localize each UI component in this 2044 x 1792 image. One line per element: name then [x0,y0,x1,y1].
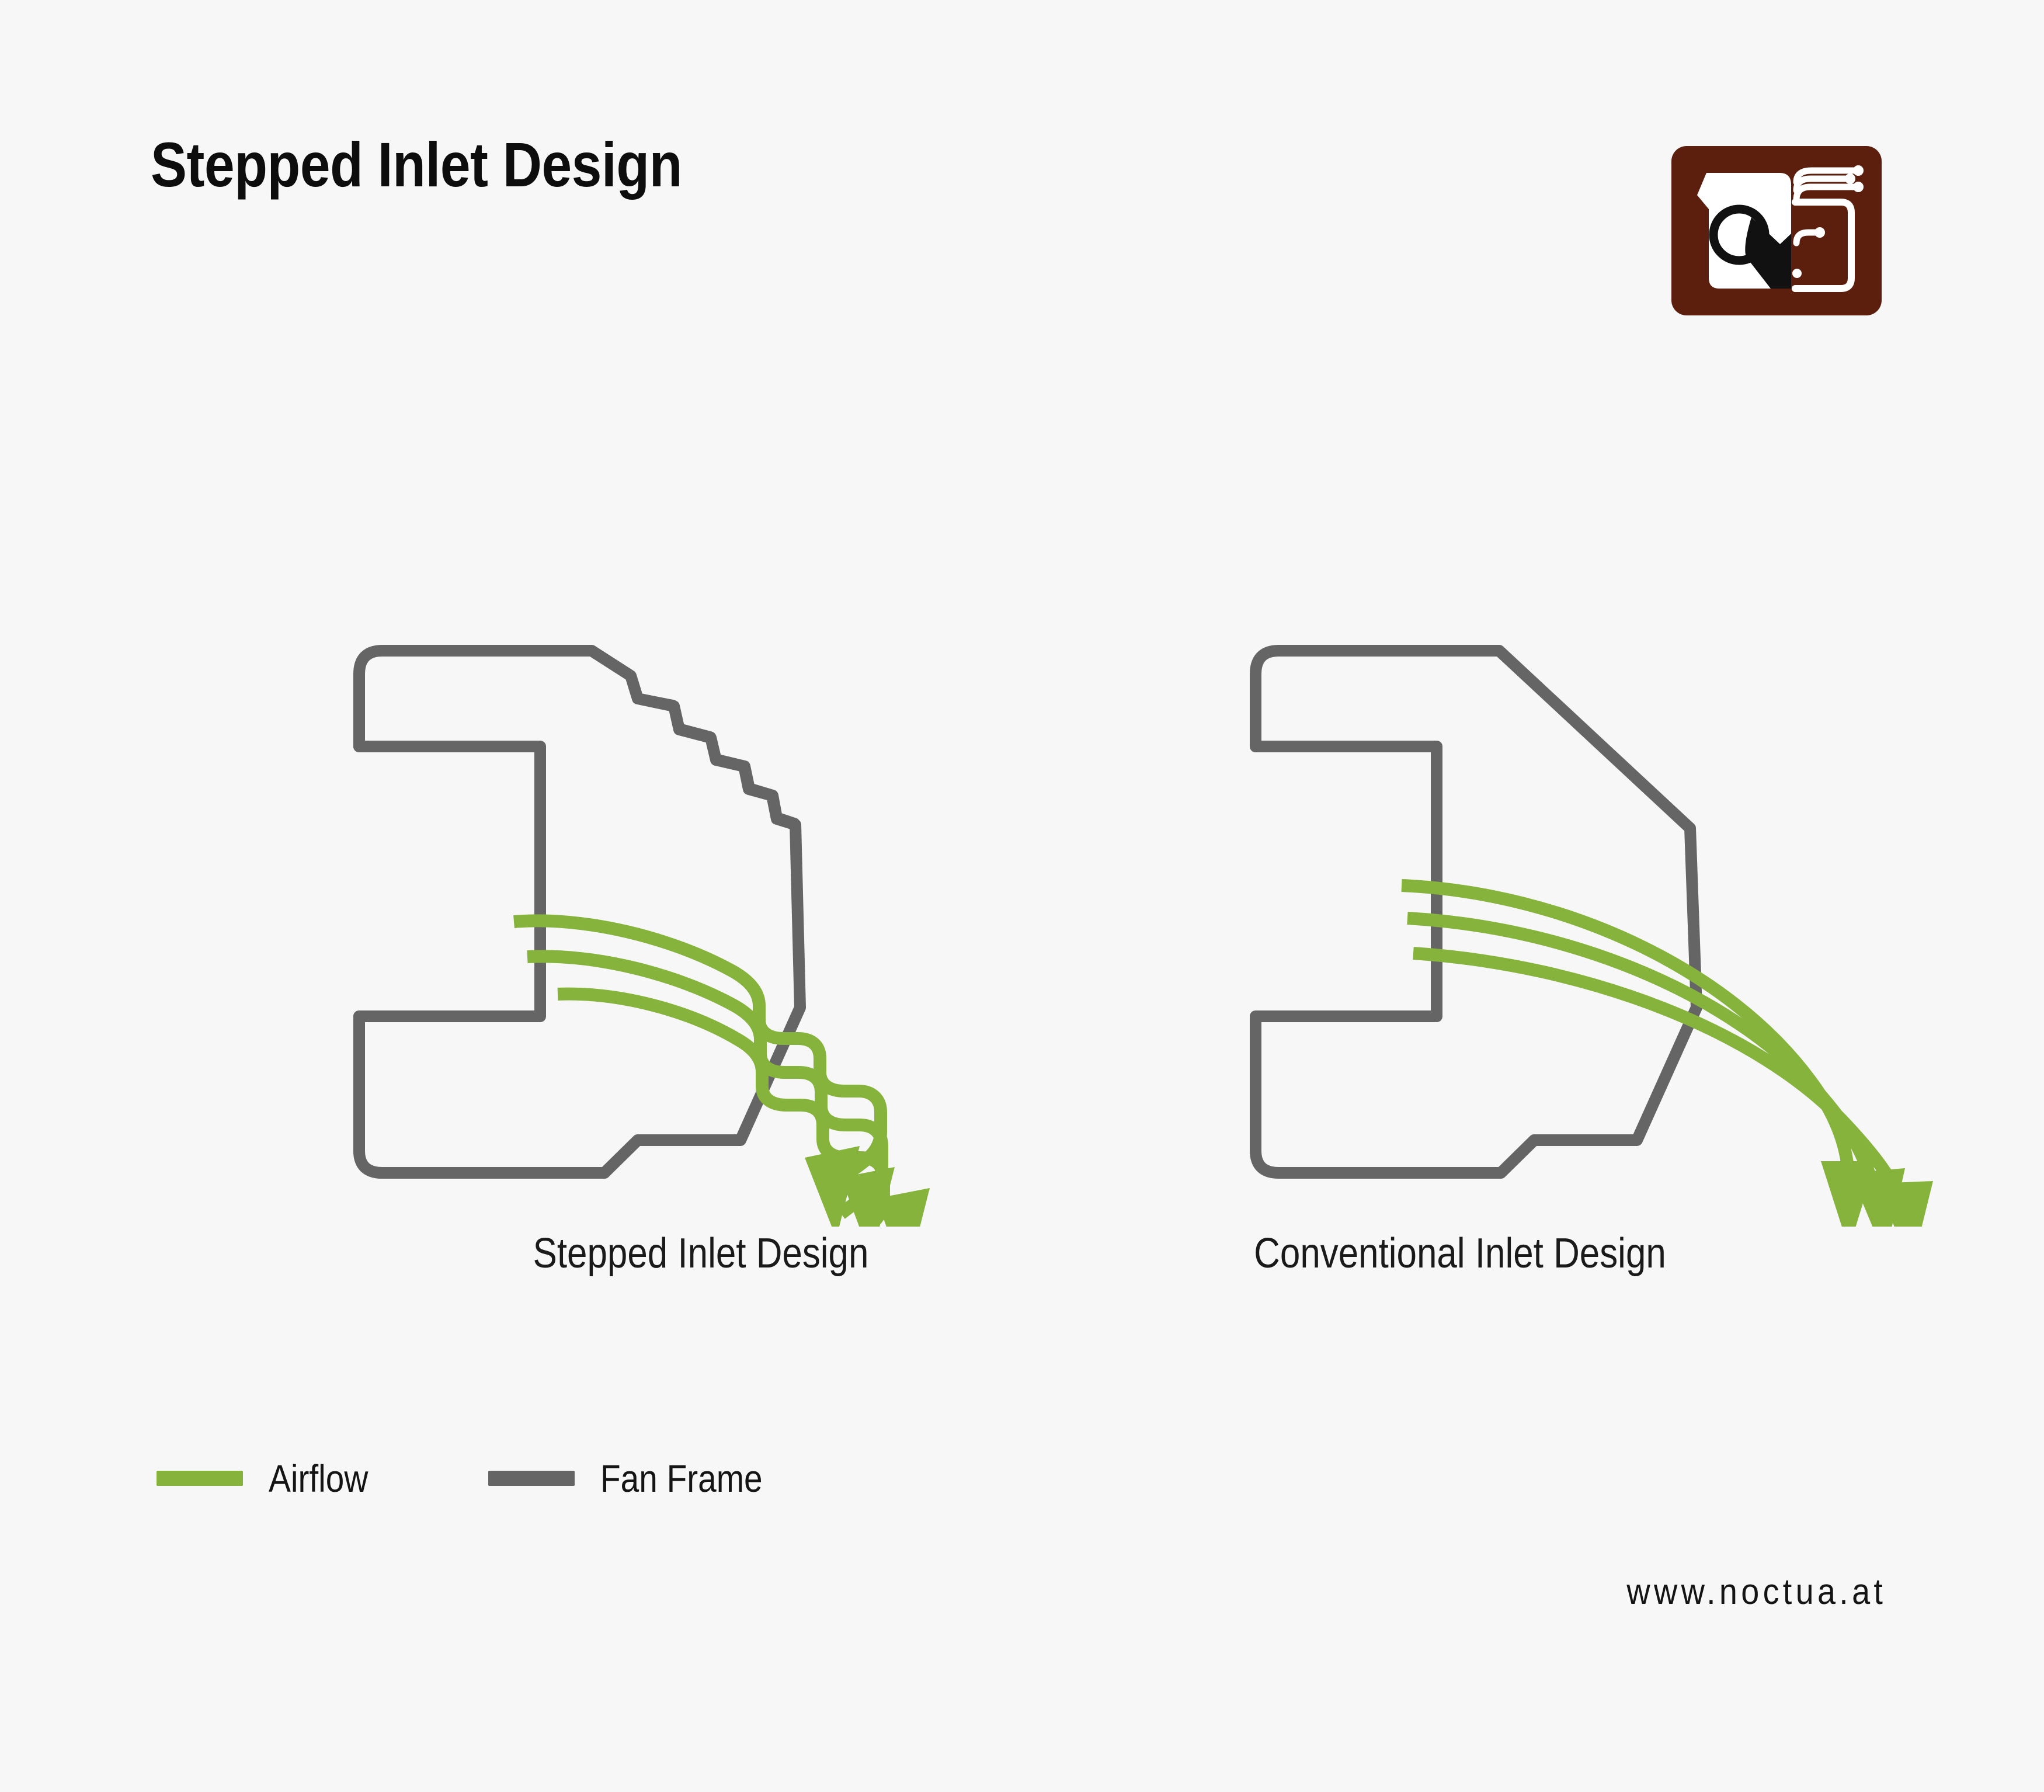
legend-item-airflow: Airflow [157,1459,384,1498]
logo-trace-dot-5 [1792,269,1802,278]
fan-frame-outline-stepped-clean [359,651,800,1173]
fan-frame-outline-conventional [1256,651,1697,1173]
legend-swatch-airflow [157,1471,243,1486]
legend: Airflow Fan Frame [157,1459,789,1498]
page-title: Stepped Inlet Design [151,133,682,196]
logo-trace-dot-3 [1853,165,1864,176]
legend-swatch-fan-frame [488,1471,575,1486]
legend-item-fan-frame: Fan Frame [488,1459,789,1498]
logo-trace-dot-4 [1814,227,1825,238]
diagram-area [0,409,2044,1227]
logo-trace-dot-2 [1845,173,1855,184]
caption-stepped-inlet: Stepped Inlet Design [299,1230,1103,1277]
infographic-canvas: Stepped Inlet Design [0,0,2044,1792]
legend-label-airflow: Airflow [269,1459,368,1498]
diagram-conventional-inlet [1256,651,1933,1227]
logo-trace-dot-1 [1853,182,1864,192]
legend-label-fan-frame: Fan Frame [600,1459,763,1498]
noctua-logo [1671,146,1882,315]
caption-conventional-inlet: Conventional Inlet Design [1058,1230,1862,1277]
diagram-stepped-inlet [359,651,930,1227]
footer-website-url: www.noctua.at [1626,1571,1886,1613]
